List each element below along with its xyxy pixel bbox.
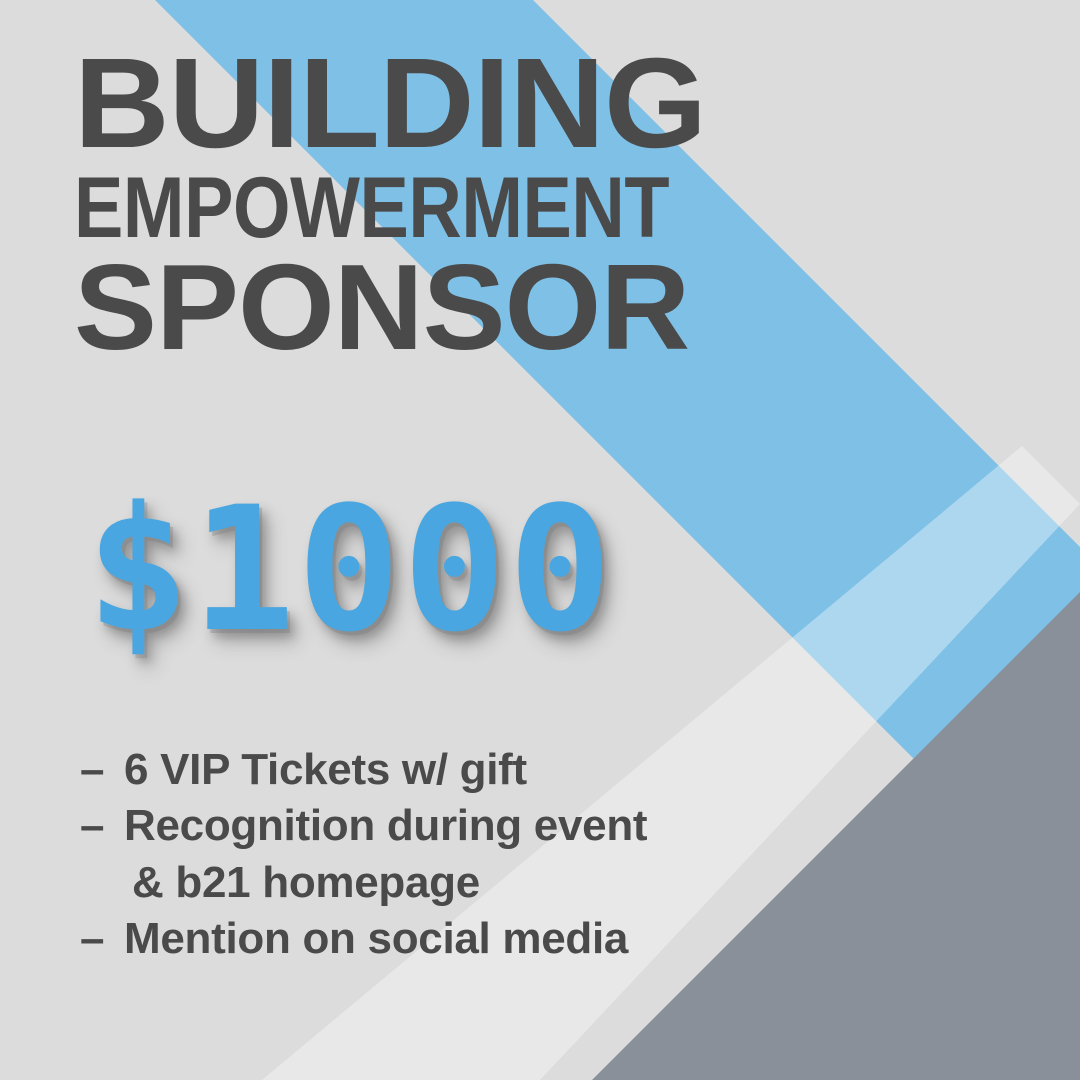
benefit-item: – Mention on social media xyxy=(80,911,840,967)
price-amount: $1000 xyxy=(86,484,614,656)
headline-line-sponsor: SPONSOR xyxy=(74,251,890,364)
headline-line-empowerment: EMPOWERMENT xyxy=(74,169,762,249)
sponsor-tier-poster: BUILDING EMPOWERMENT SPONSOR $1000 – 6 V… xyxy=(0,0,1080,1080)
benefit-label: Recognition during event xyxy=(124,798,647,854)
dash-icon: – xyxy=(80,742,124,798)
benefit-label: Mention on social media xyxy=(124,911,628,967)
headline-line-building: BUILDING xyxy=(74,44,902,163)
benefit-item: – 6 VIP Tickets w/ gift xyxy=(80,742,840,798)
benefit-label: 6 VIP Tickets w/ gift xyxy=(124,742,527,798)
benefit-label: & b21 homepage xyxy=(124,855,480,911)
dash-icon: – xyxy=(80,911,124,967)
headline-block: BUILDING EMPOWERMENT SPONSOR xyxy=(74,44,874,364)
dash-icon: – xyxy=(80,798,124,854)
benefits-list: – 6 VIP Tickets w/ gift – Recognition du… xyxy=(80,742,840,967)
benefit-item: – Recognition during event xyxy=(80,798,840,854)
benefit-item-continuation: – & b21 homepage xyxy=(80,855,840,911)
